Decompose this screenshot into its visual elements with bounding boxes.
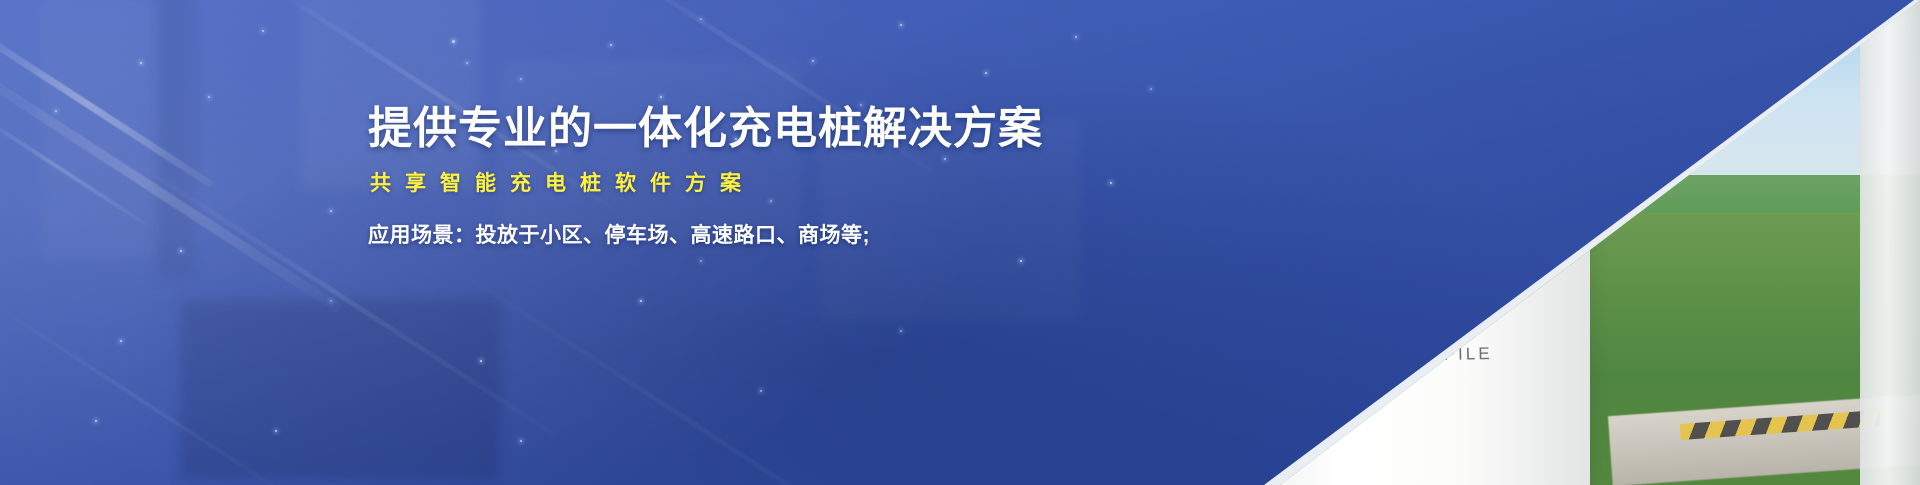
sparkle-dot: [1020, 260, 1022, 262]
sparkle-dot: [900, 24, 902, 26]
sparkle-dot: [452, 40, 455, 43]
sparkle-dot: [520, 440, 522, 442]
sparkle-dot: [466, 62, 468, 64]
sparkle-dot: [985, 72, 987, 74]
sparkle-dot: [900, 330, 902, 332]
sparkle-dot: [700, 260, 702, 262]
banner-tagline: 应用场景：投放于小区、停车场、高速路口、商场等;: [368, 219, 988, 249]
sparkle-dot: [262, 30, 264, 32]
sparkle-dot: [640, 300, 642, 302]
sparkle-dot: [208, 96, 210, 98]
sparkle-dot: [330, 300, 332, 302]
banner-headline: 提供专业的一体化充电桩解决方案: [368, 104, 988, 153]
sparkle-dot: [275, 430, 277, 432]
sparkle-dot: [660, 96, 662, 98]
sparkle-dot: [55, 110, 57, 112]
sparkle-dot: [480, 360, 482, 362]
banner-copy: 提供专业的一体化充电桩解决方案 共享智能充电桩软件方案 应用场景：投放于小区、停…: [368, 104, 988, 249]
banner-subline: 共享智能充电桩软件方案: [370, 167, 988, 197]
sparkle-dot: [180, 250, 182, 252]
sparkle-dot: [760, 390, 762, 392]
sparkle-dot: [140, 62, 142, 64]
secondary-charger-edge: [1860, 0, 1920, 485]
sparkle-dot: [1110, 182, 1112, 184]
sparkle-dot: [812, 60, 814, 62]
sparkle-dot: [520, 78, 522, 80]
hero-banner: 提供专业的一体化充电桩解决方案 共享智能充电桩软件方案 应用场景：投放于小区、停…: [0, 0, 1920, 485]
sparkle-dot: [700, 18, 702, 20]
sparkle-dot: [330, 210, 332, 212]
sparkle-dot: [95, 420, 97, 422]
sparkle-dot: [1150, 88, 1152, 90]
sparkle-dot: [1075, 36, 1077, 38]
sparkle-dot: [610, 44, 612, 46]
sparkle-dot: [120, 340, 122, 342]
